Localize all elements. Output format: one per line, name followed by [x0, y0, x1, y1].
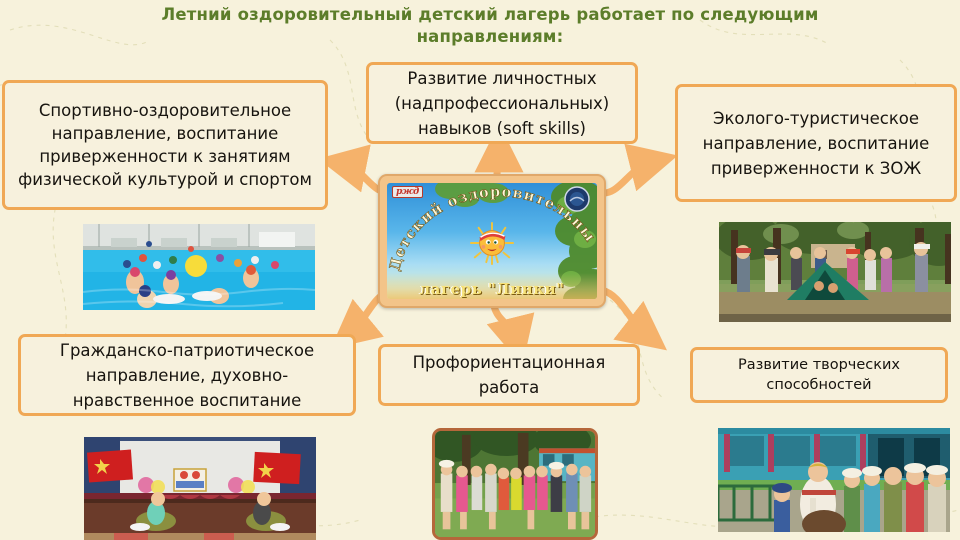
direction-box-eco[interactable]: Эколого-туристическое направление, воспи…: [675, 84, 957, 202]
photo-folk-activity: [718, 428, 950, 532]
photo-camping-tent-image: [719, 222, 951, 322]
direction-box-civic-label: Гражданско-патриотическое направление, д…: [29, 338, 345, 413]
photo-camping-tent: [719, 222, 951, 322]
camp-name-text: лагерь "Линки": [387, 280, 597, 298]
photo-children-group: [432, 428, 598, 540]
direction-box-creative-label: Развитие творческих способностей: [701, 355, 937, 395]
photo-children-group-image: [435, 431, 595, 539]
direction-box-career[interactable]: Профориентационная работа: [378, 344, 640, 406]
photo-pool: [83, 224, 315, 310]
slide-canvas: Летний оздоровительный детский лагерь ра…: [0, 0, 960, 540]
direction-box-civic[interactable]: Гражданско-патриотическое направление, д…: [18, 334, 356, 416]
direction-box-soft-skills-label: Развитие личностных (надпрофессиональных…: [377, 66, 627, 141]
sun-mascot-icon: [468, 221, 516, 265]
photo-stage-performance: [84, 437, 316, 540]
photo-pool-image: [83, 224, 315, 310]
direction-box-career-label: Профориентационная работа: [389, 350, 629, 400]
direction-box-soft-skills[interactable]: Развитие личностных (надпрофессиональных…: [366, 62, 638, 144]
photo-stage-performance-image: [84, 437, 316, 540]
direction-box-creative[interactable]: Развитие творческих способностей: [690, 347, 948, 403]
direction-box-eco-label: Эколого-туристическое направление, воспи…: [686, 106, 946, 181]
direction-box-sport-label: Спортивно-оздоровительное направление, в…: [13, 99, 317, 191]
photo-folk-activity-image: [718, 428, 950, 532]
page-title: Летний оздоровительный детский лагерь ра…: [95, 4, 885, 48]
camp-logo[interactable]: ржд Детский оздоровительный: [378, 174, 606, 308]
direction-box-sport[interactable]: Спортивно-оздоровительное направление, в…: [2, 80, 328, 210]
